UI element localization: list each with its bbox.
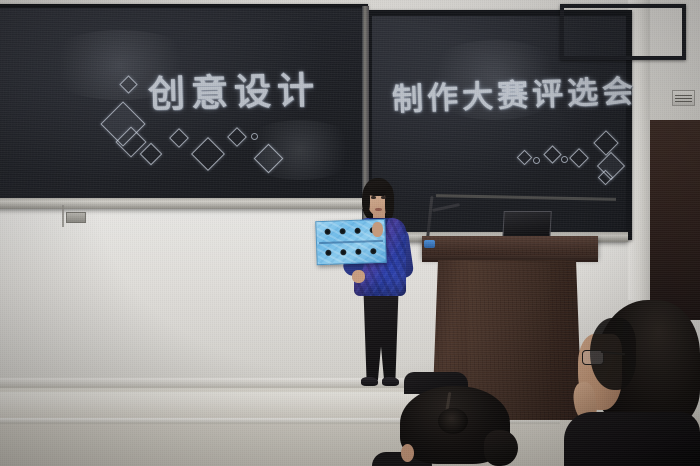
presenter-eye-right: [381, 196, 386, 199]
chalkboard-heading-line-1: 创意设计: [147, 60, 320, 118]
audience-right-torso: [564, 412, 700, 466]
audience-member-right: [560, 300, 700, 466]
chalkboard-heading-line-2: 制作大赛评选会: [391, 66, 637, 120]
chalk-dot: [561, 156, 568, 163]
presenter-eye-left: [371, 196, 376, 199]
classroom-presentation-photo: 创意设计 制作大赛评选会: [0, 0, 700, 466]
chalk-tray-left: [0, 198, 370, 209]
chalk-tray-bracket-stem: [62, 205, 64, 227]
presenter-trousers: [362, 292, 400, 380]
audience-front-ear: [401, 444, 414, 462]
audience-front-ponytail: [484, 430, 518, 466]
presenter-hair-left: [363, 186, 370, 214]
wall-plaque: [672, 90, 695, 106]
chalkboard-upper-right-frame: [560, 4, 686, 60]
presenter-hand-left: [352, 270, 365, 283]
audience-front-hair-bun: [438, 408, 468, 434]
chalk-dot: [251, 133, 258, 140]
wall-plaque-text: [675, 94, 692, 102]
presenter-shoe-left: [361, 377, 378, 386]
audience-member-front: [392, 386, 542, 466]
presenter-shoe-right: [382, 377, 399, 386]
student-presenter: [330, 178, 426, 398]
presenter-mouth: [375, 208, 382, 211]
presenter-hand-right: [372, 222, 383, 237]
classroom-door[interactable]: [650, 120, 700, 320]
chalk-tray-bracket: [66, 212, 86, 223]
chalk-dot: [533, 157, 540, 164]
presenter-hair-right: [385, 186, 394, 219]
